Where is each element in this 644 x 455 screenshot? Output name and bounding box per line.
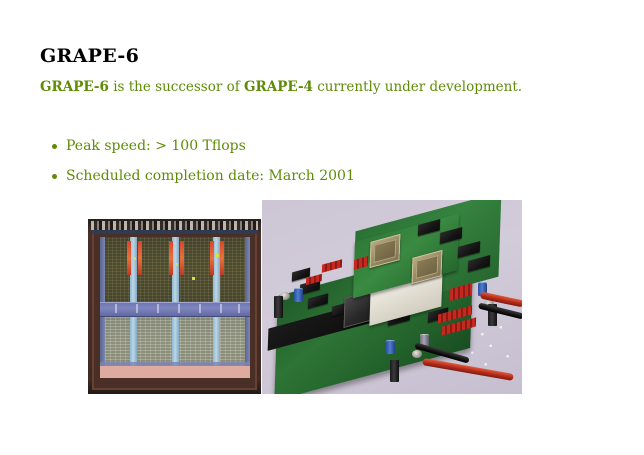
pcb-ic-chip: [378, 267, 400, 284]
pcb-standoff: [390, 360, 399, 382]
pcb-gold-chip: [412, 250, 443, 284]
pcb-ic-chip: [308, 293, 328, 309]
list-item-label: Peak speed: > 100 Tflops: [66, 138, 246, 154]
die-marker: [138, 241, 142, 275]
figure-row: [0, 0, 644, 455]
pcb-capacitor: [294, 288, 303, 302]
grape-6-chip-die-photo: [88, 219, 261, 394]
pcb-memory-module: [468, 255, 490, 272]
pcb-red-components: [438, 305, 472, 323]
power-wire-red: [480, 292, 522, 308]
pcb-ic-chip: [428, 307, 448, 323]
die-marker: [210, 241, 214, 275]
pcb-red-components: [322, 259, 342, 272]
pcb-ic-chip: [388, 309, 410, 326]
die-logic-block-lower: [100, 316, 250, 378]
die-bottom-pad-strip: [100, 366, 250, 378]
pcb-ic-chip: [332, 301, 352, 317]
die-marker: [127, 241, 131, 275]
pcb-heatsink-module: [369, 268, 442, 326]
pcb-red-components: [354, 256, 368, 270]
die-bond-pad-rail: [91, 221, 258, 230]
body-paragraph: GRAPE-6 is the successor of GRAPE-4 curr…: [40, 78, 568, 97]
list-item-label: Scheduled completion date: March 2001: [66, 168, 355, 184]
die-marker: [169, 241, 173, 275]
pcb-edge-connector: [268, 295, 393, 351]
die-lower-bus: [100, 362, 250, 366]
list-item: Peak speed: > 100 Tflops: [52, 137, 552, 155]
pcb-upper-section: [353, 200, 502, 316]
backdrop-speckles: [432, 318, 516, 376]
pcb-mounting-screw: [412, 350, 422, 358]
pcb-main-board: [274, 243, 474, 394]
bullet-dot-icon: [52, 174, 57, 179]
die-channel: [213, 237, 220, 378]
body-text-mid: is the successor of: [109, 79, 244, 95]
die-active-area: [100, 237, 250, 378]
power-wire-red: [422, 358, 514, 381]
pcb-ic-chip: [412, 293, 434, 310]
die-speckle: [175, 263, 178, 266]
pcb-mounting-screw: [484, 300, 494, 308]
die-speckle: [133, 257, 136, 260]
pcb-capacitor: [478, 282, 487, 296]
pcb-red-components: [450, 283, 472, 301]
die-channel: [130, 237, 137, 378]
die-channel: [172, 237, 179, 378]
photo-backdrop: [262, 200, 522, 394]
pcb-standoff: [488, 304, 497, 326]
die-speckle: [192, 277, 195, 280]
body-text-lead: GRAPE-6: [40, 79, 109, 95]
pcb-red-components: [442, 317, 476, 335]
presentation-slide: GRAPE-6 GRAPE-6 is the successor of GRAP…: [0, 0, 644, 455]
pcb-red-components: [306, 274, 322, 285]
pcb-memory-module: [458, 241, 480, 258]
pcb-capacitor: [420, 334, 429, 348]
pcb-ic-chip: [300, 279, 320, 295]
pcb-ic-chip: [356, 309, 376, 325]
bullet-list: Peak speed: > 100 Tflops Scheduled compl…: [52, 137, 552, 197]
die-frame: [92, 224, 257, 390]
pcb-daughter-card: [353, 214, 459, 299]
die-substrate: [88, 219, 261, 394]
die-edge-bus-right: [245, 237, 250, 378]
die-marker: [180, 241, 184, 275]
die-marker: [220, 241, 224, 275]
die-logic-block-upper: [100, 237, 250, 305]
body-text-tail: currently under development.: [313, 79, 522, 95]
bullet-dot-icon: [52, 144, 57, 149]
die-bond-pad-rail-secondary: [91, 230, 258, 234]
pcb-capacitor: [386, 340, 395, 354]
pcb-memory-module: [440, 227, 462, 244]
body-text-emph-grape4: GRAPE-4: [244, 79, 313, 95]
page-title: GRAPE-6: [40, 45, 139, 67]
pcb-main-processor-chip: [343, 286, 388, 328]
list-item: Scheduled completion date: March 2001: [52, 167, 552, 185]
grape-6-board-photo: [262, 200, 522, 394]
die-speckle: [216, 254, 219, 257]
power-wire-black: [478, 303, 522, 320]
power-wire-black: [414, 342, 469, 363]
pcb-ic-chip: [292, 268, 310, 282]
pcb-mounting-screw: [280, 292, 290, 300]
pcb-ic-chip: [402, 275, 424, 292]
pcb-standoff: [274, 296, 283, 318]
die-horizontal-bus: [100, 302, 250, 318]
pcb-gold-chip: [370, 234, 401, 268]
die-edge-bus-left: [100, 237, 105, 378]
pcb-memory-module: [418, 219, 440, 236]
